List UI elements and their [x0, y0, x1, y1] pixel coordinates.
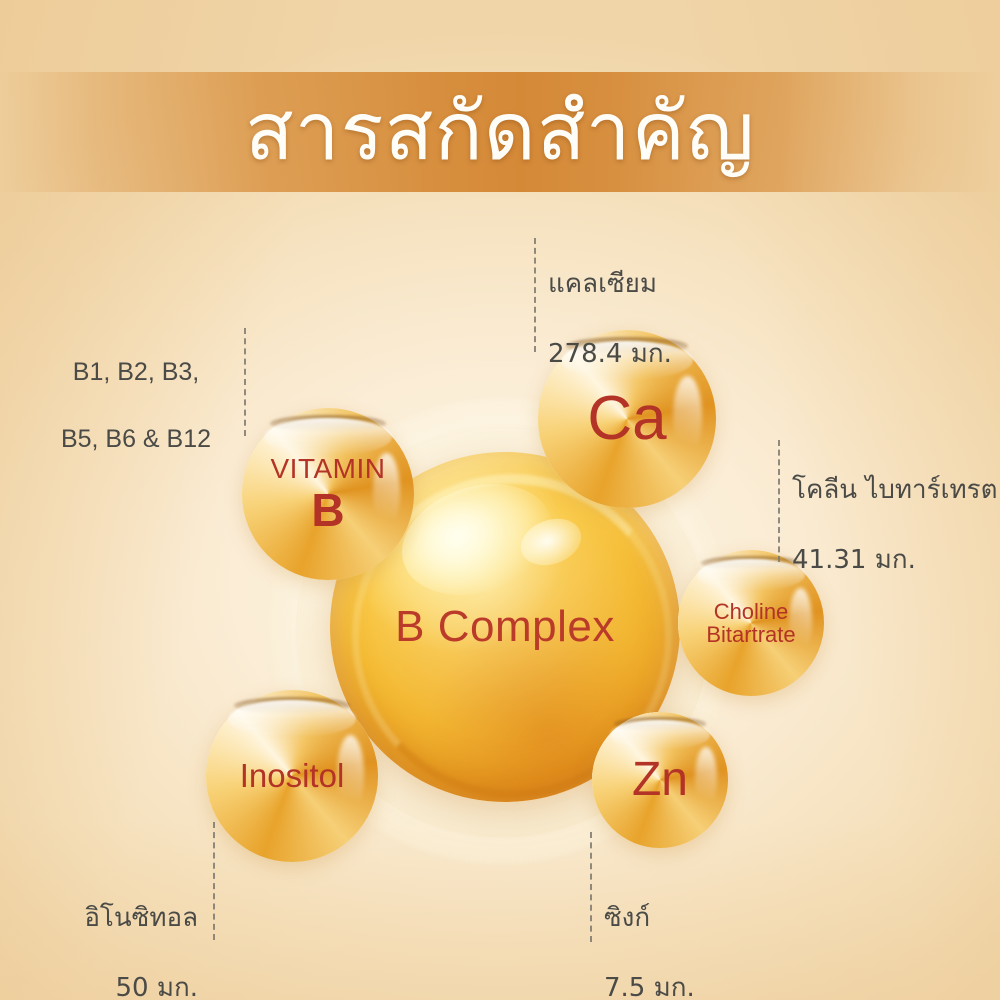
bubble-label-choline-line1: Choline — [714, 600, 789, 623]
leader-line-vitamin-b — [244, 328, 246, 436]
bubble-label-vitamin-b: VITAMIN B — [242, 408, 414, 580]
callout-inositol-line1: อิโนซิทอล — [20, 901, 198, 936]
callout-inositol-line2: 50 มก. — [20, 971, 198, 1000]
leader-line-inositol — [213, 822, 215, 940]
callout-choline-line2: 41.31 มก. — [792, 543, 998, 578]
bubble-label-zinc: Zn — [592, 712, 728, 848]
leader-line-calcium — [534, 238, 536, 352]
callout-vitamin-b: B1, B2, B3, B5, B6 & B12 — [46, 322, 226, 491]
bubble-label-vitamin-b-line1: VITAMIN — [271, 454, 386, 483]
callout-choline: โคลีน ไบทาร์เทรต 41.31 มก. — [792, 438, 998, 613]
leader-line-choline — [778, 440, 780, 562]
leader-line-zinc — [590, 832, 592, 942]
bubble-label-inositol: Inositol — [206, 690, 378, 862]
callout-choline-line1: โคลีน ไบทาร์เทรต — [792, 473, 998, 508]
callout-vitamin-b-line2: B5, B6 & B12 — [46, 423, 226, 457]
callout-zinc-line1: ซิงก์ — [604, 901, 695, 936]
callout-inositol: อิโนซิทอล 50 มก. — [20, 866, 198, 1000]
bubble-label-vitamin-b-line2: B — [311, 486, 344, 534]
callout-calcium-line1: แคลเซียม — [548, 267, 672, 302]
bubble-zinc[interactable]: Zn — [592, 712, 728, 848]
bubble-vitamin-b[interactable]: VITAMIN B — [242, 408, 414, 580]
callout-vitamin-b-line1: B1, B2, B3, — [46, 356, 226, 390]
callout-zinc: ซิงก์ 7.5 มก. — [604, 866, 695, 1000]
callout-calcium: แคลเซียม 278.4 มก. — [548, 232, 672, 407]
bubble-label-choline-line2: Bitartrate — [706, 623, 795, 646]
callout-calcium-line2: 278.4 มก. — [548, 337, 672, 372]
bubble-inositol[interactable]: Inositol — [206, 690, 378, 862]
infographic-canvas: สารสกัดสำคัญ B Complex Ca VITAMIN B Chol… — [0, 0, 1000, 1000]
callout-zinc-line2: 7.5 มก. — [604, 971, 695, 1000]
page-title: สารสกัดสำคัญ — [0, 72, 1000, 192]
